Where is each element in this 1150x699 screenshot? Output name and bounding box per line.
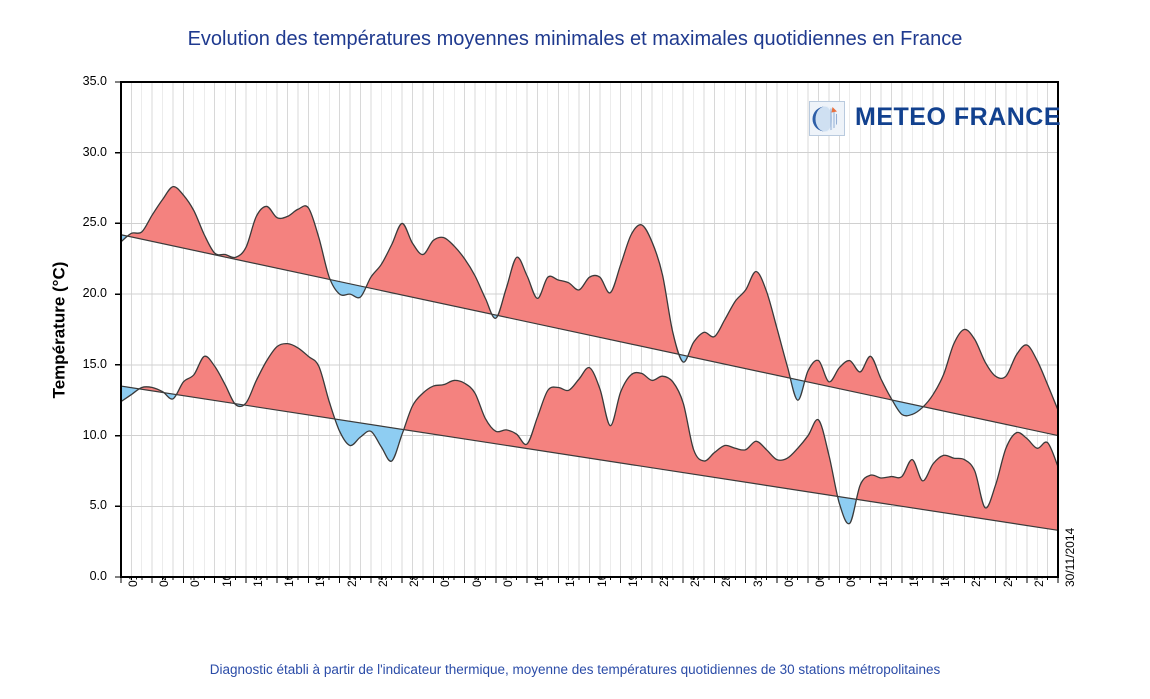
globe-icon: [809, 101, 845, 136]
meteo-france-temperature-chart: Evolution des températures moyennes mini…: [0, 0, 1150, 699]
meteo-france-logo-text: METEO FRANCE: [855, 103, 1061, 132]
footer-caption: Diagnostic établi à partir de l'indicate…: [0, 662, 1150, 677]
